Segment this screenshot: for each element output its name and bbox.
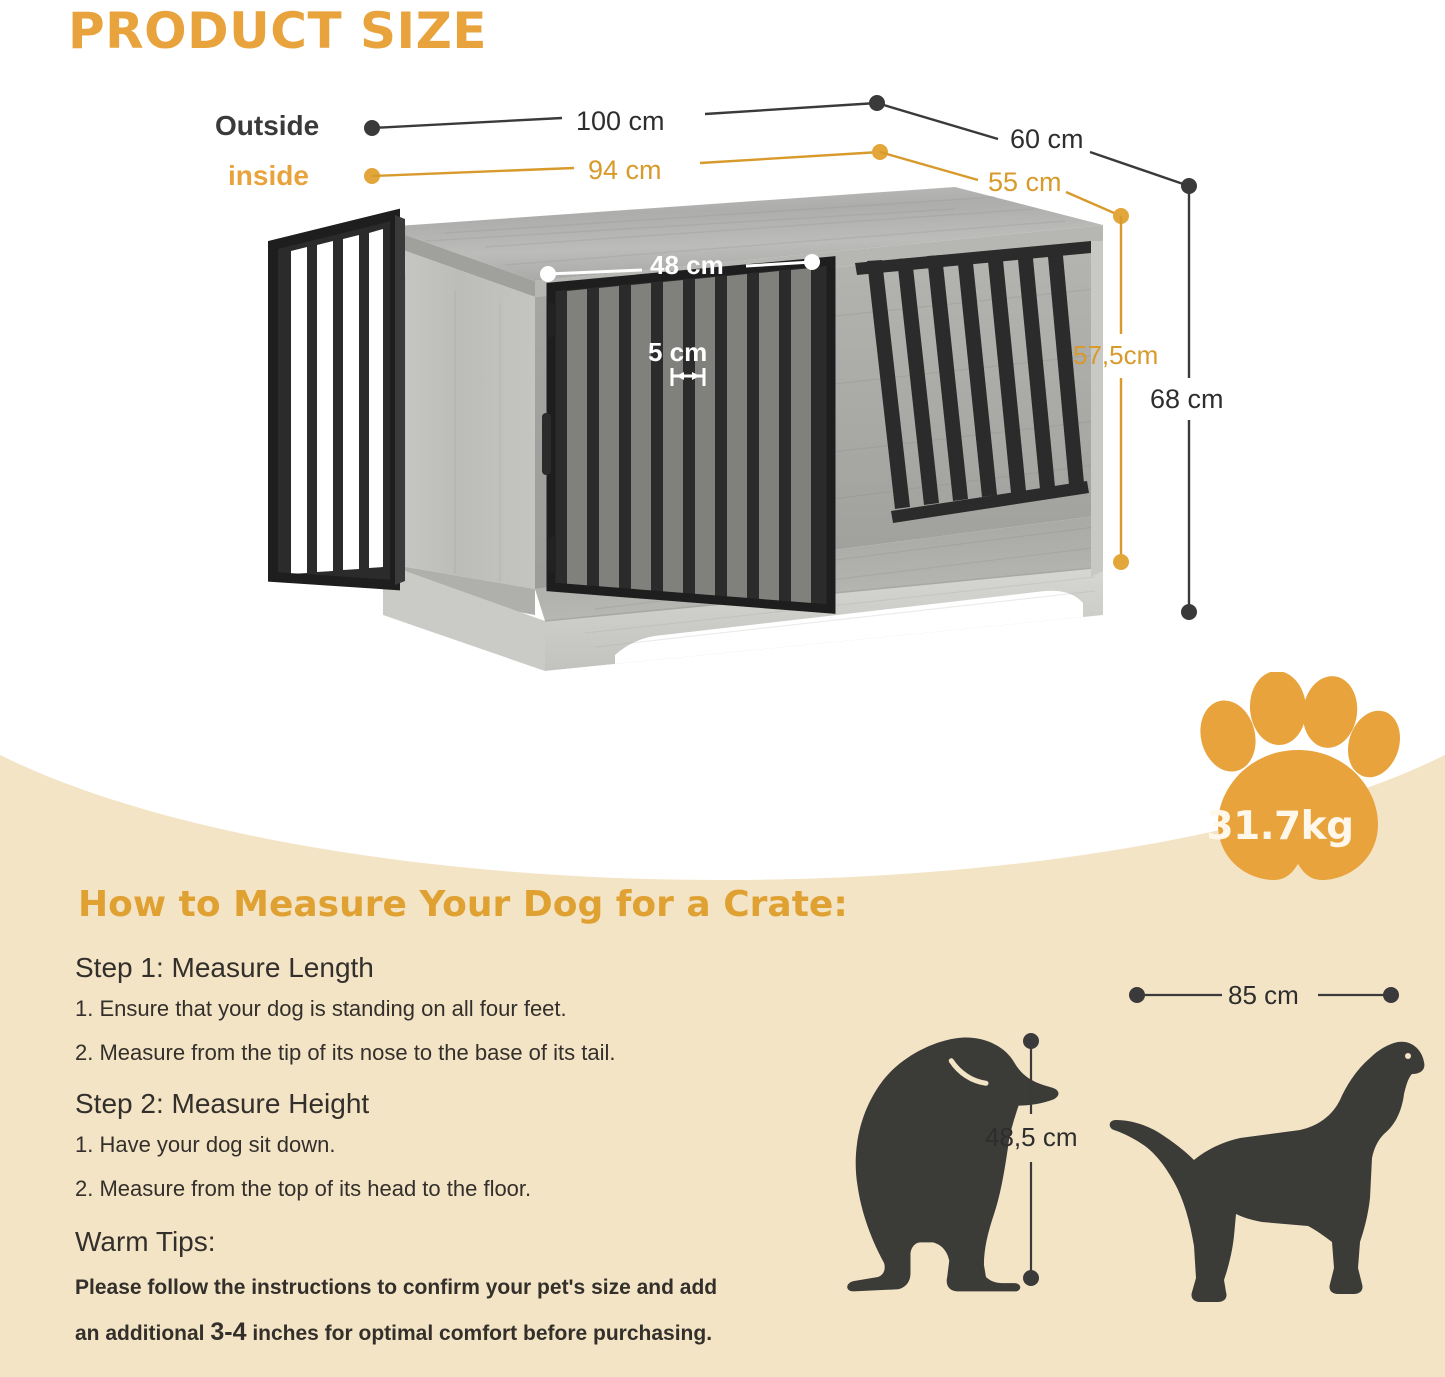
dim-outside-length: 100 cm xyxy=(576,106,665,137)
dim-inside-height: 57,5cm xyxy=(1073,340,1158,371)
crate-open-left-door xyxy=(273,215,405,585)
warm-tips-line-1: Please follow the instructions to confir… xyxy=(75,1276,717,1300)
dim-dog-length: 85 cm xyxy=(1228,980,1299,1011)
warm-tips-line2-post: inches for optimal comfort before purcha… xyxy=(246,1322,712,1345)
step1-line-1: 1. Ensure that your dog is standing on a… xyxy=(75,996,567,1022)
infographic-page: PRODUCT SIZE Outside inside xyxy=(0,0,1445,1377)
dim-outside-height: 68 cm xyxy=(1150,384,1224,415)
dim-bar-spacing: 5 cm xyxy=(648,337,707,368)
crate-right-outer-edge xyxy=(1091,241,1103,577)
dim-inside-depth: 55 cm xyxy=(988,167,1062,198)
step1-line-2: 2. Measure from the tip of its nose to t… xyxy=(75,1040,616,1066)
step2-line-2: 2. Measure from the top of its head to t… xyxy=(75,1176,531,1202)
page-title: PRODUCT SIZE xyxy=(68,2,487,60)
crate-left-side-wall xyxy=(383,243,535,615)
warm-tips-inches-value: 3-4 xyxy=(210,1318,246,1346)
weight-value: 31.7kg xyxy=(1150,804,1410,849)
warm-tips-line2-pre: an additional xyxy=(75,1322,210,1345)
dim-outside-depth: 60 cm xyxy=(1010,124,1084,155)
step2-line-1: 1. Have your dog sit down. xyxy=(75,1132,335,1158)
step1-heading: Step 1: Measure Length xyxy=(75,952,374,984)
dim-dog-sit-height: 48,5 cm xyxy=(985,1122,1078,1153)
legend-outside-label: Outside xyxy=(215,110,319,142)
dim-inside-length: 94 cm xyxy=(588,155,662,186)
paw-icon xyxy=(1150,672,1410,887)
warm-tips-heading: Warm Tips: xyxy=(75,1226,216,1258)
warm-tips-line-2: an additional 3-4 inches for optimal com… xyxy=(75,1318,712,1347)
dim-dot xyxy=(364,120,380,136)
crate-front-barred-door xyxy=(542,261,835,609)
howto-section-title: How to Measure Your Dog for a Crate: xyxy=(78,884,848,925)
weight-paw-badge: 31.7kg xyxy=(1150,672,1410,887)
dim-door-width: 48 cm xyxy=(650,250,724,281)
step2-heading: Step 2: Measure Height xyxy=(75,1088,369,1120)
